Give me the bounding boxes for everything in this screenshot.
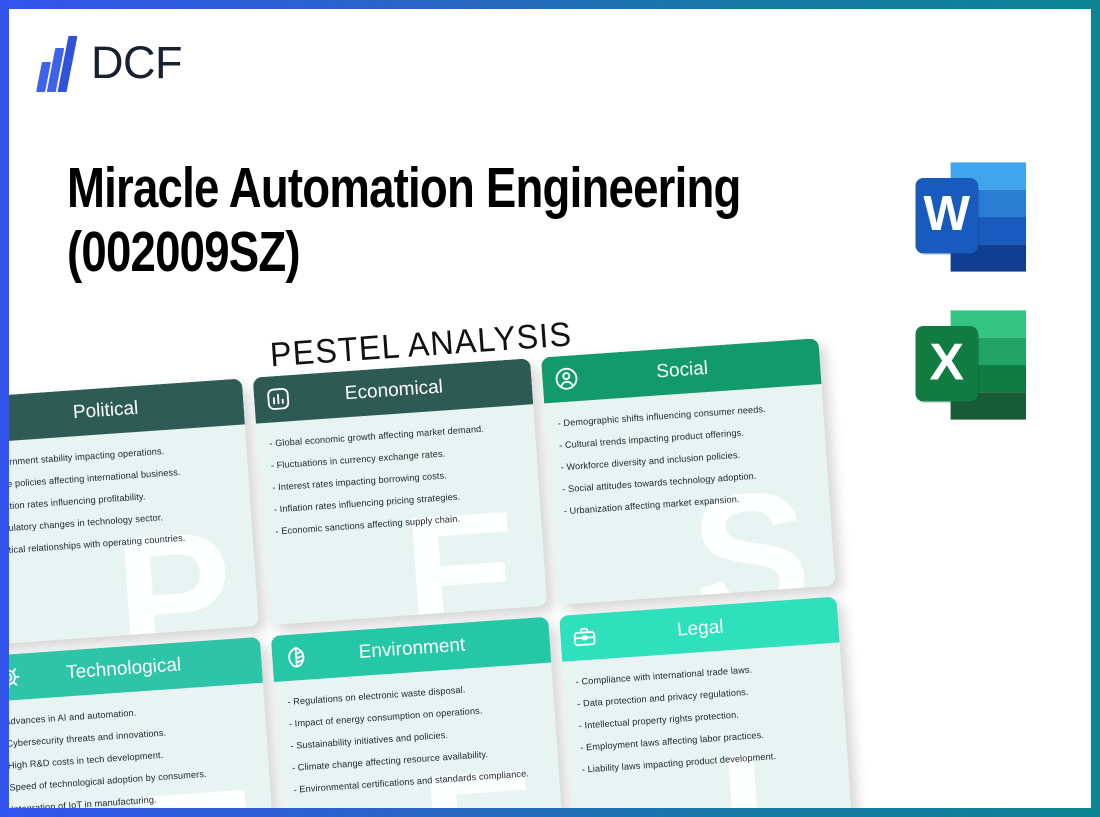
pestel-card-title-social: Social: [580, 351, 811, 389]
brand-name: DCF: [91, 37, 182, 89]
pestel-bullet-list-social: Demographic shifts influencing consumer …: [557, 401, 817, 518]
pestel-bullet-list-political: Government stability impacting operation…: [9, 441, 241, 558]
pestel-bullet-list-legal: Compliance with international trade laws…: [575, 659, 835, 776]
svg-text:X: X: [929, 333, 964, 391]
pestel-card-legal: LegalLCompliance with international trad…: [559, 597, 854, 808]
pestel-analysis-graphic: PESTEL ANALYSIS PoliticalPGovernment sta…: [9, 287, 895, 808]
pestel-card-title-environment: Environment: [309, 629, 540, 667]
pestel-bullet: Environmental certifications and standar…: [293, 767, 547, 796]
pestel-bullet: Urbanization affecting market expansion.: [563, 489, 817, 518]
pestel-card-grid: PoliticalPGovernment stability impacting…: [9, 335, 898, 808]
pestel-card-technological: TechnologicalTAdvances in AI and automat…: [9, 637, 277, 808]
pestel-card-body-social: SDemographic shifts influencing consumer…: [544, 384, 835, 605]
pestel-card-title-political: Political: [9, 391, 234, 429]
pestel-bullet-list-environment: Regulations on electronic waste disposal…: [287, 679, 547, 796]
pestel-card-body-legal: LCompliance with international trade law…: [562, 642, 853, 808]
pestel-card-body-technological: TAdvances in AI and automation.Cybersecu…: [9, 683, 277, 808]
pestel-card-body-political: PGovernment stability impacting operatio…: [9, 424, 259, 645]
pestel-card-body-environment: ERegulations on electronic waste disposa…: [274, 663, 565, 808]
pestel-card-body-economical: EGlobal economic growth affecting market…: [256, 404, 547, 625]
microsoft-word-icon[interactable]: W: [909, 152, 1039, 282]
leaf-icon: [281, 642, 311, 672]
bar-chart-icon: [263, 384, 293, 414]
person-icon: [552, 364, 582, 394]
pestel-bullet-list-technological: Advances in AI and automation.Cybersecur…: [9, 700, 259, 808]
pestel-bullet-list-economical: Global economic growth affecting market …: [269, 421, 529, 538]
dcf-bars-logo-icon: [37, 34, 77, 92]
svg-text:W: W: [923, 186, 970, 241]
pestel-card-title-legal: Legal: [598, 609, 829, 647]
pestel-card-environment: EnvironmentERegulations on electronic wa…: [271, 617, 566, 808]
page-canvas: DCF Miracle Automation Engineering (0020…: [9, 9, 1091, 808]
pestel-card-title-economical: Economical: [291, 371, 522, 409]
page-frame: DCF Miracle Automation Engineering (0020…: [0, 0, 1100, 817]
download-icons: W X: [909, 152, 1039, 430]
pestel-card-title-technological: Technological: [21, 649, 252, 687]
microsoft-excel-icon[interactable]: X: [909, 300, 1039, 430]
pestel-card-political: PoliticalPGovernment stability impacting…: [9, 378, 259, 645]
pestel-card-social: SocialSDemographic shifts influencing co…: [541, 338, 836, 605]
page-title: Miracle Automation Engineering (002009SZ…: [67, 157, 787, 285]
briefcase-icon: [570, 622, 600, 652]
pestel-bullet: Liability laws impacting product develop…: [581, 747, 835, 776]
pestel-card-economical: EconomicalEGlobal economic growth affect…: [253, 358, 548, 625]
brand-logo[interactable]: DCF: [37, 34, 182, 92]
pestel-bullet: Political relationships with operating c…: [9, 529, 241, 558]
pestel-bullet: Economic sanctions affecting supply chai…: [275, 509, 529, 538]
